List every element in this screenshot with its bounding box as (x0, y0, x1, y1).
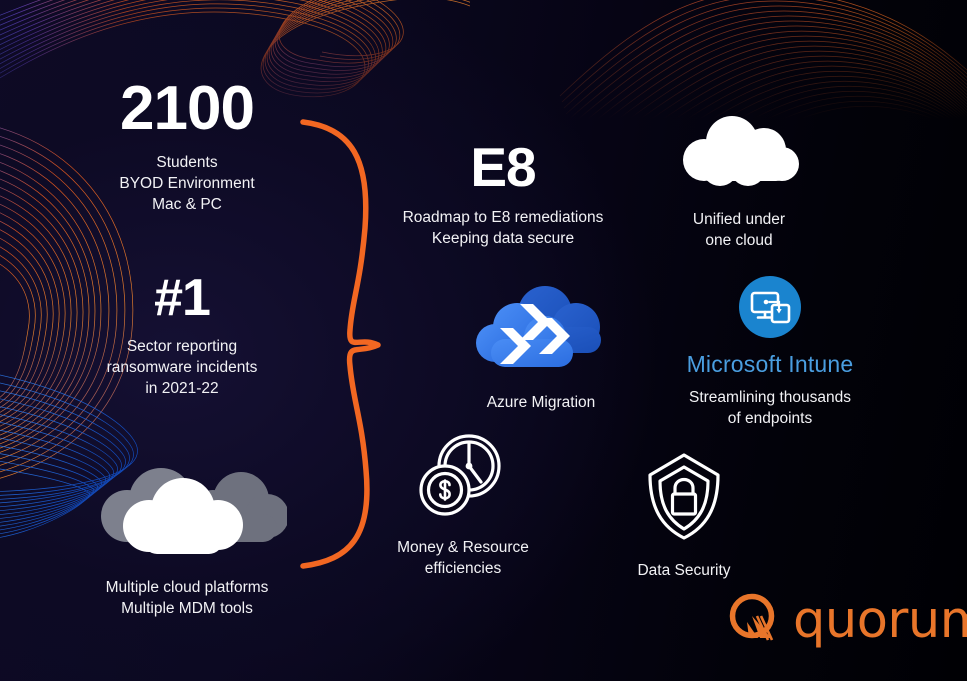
money-resource-block: Money & Resource efficiencies (342, 432, 584, 579)
caption-line: Multiple MDM tools (106, 598, 269, 619)
caption-line: efficiencies (397, 558, 529, 579)
unified-cloud-block: Unified under one cloud (618, 116, 860, 251)
stat-students-number: 2100 (120, 78, 254, 140)
intune-caption: Streamlining thousands of endpoints (689, 387, 851, 429)
caption-line: Streamlining thousands (689, 387, 851, 408)
caption-line: Sector reporting (107, 336, 258, 357)
multi-cloud-icon (87, 468, 287, 565)
data-security-block: Data Security (563, 450, 805, 581)
caption-line: of endpoints (689, 408, 851, 429)
intune-brand-label: Microsoft Intune (687, 351, 854, 378)
stat-sector-caption: Sector reporting ransomware incidents in… (107, 336, 258, 399)
quorum-wordmark: quorum (793, 595, 967, 646)
caption-line: BYOD Environment (119, 173, 254, 194)
stat-students-block: 2100 Students BYOD Environment Mac & PC (66, 78, 308, 215)
data-security-caption: Data Security (637, 560, 730, 581)
intune-block: Microsoft Intune Streamlining thousands … (648, 276, 892, 429)
caption-line: one cloud (693, 230, 785, 251)
caption-line: Money & Resource (397, 537, 529, 558)
shield-lock-icon (644, 450, 724, 547)
caption-line: Multiple cloud platforms (106, 577, 269, 598)
stat-sector-number: #1 (154, 272, 210, 324)
caption-line: Data Security (637, 560, 730, 581)
azure-migration-caption: Azure Migration (487, 392, 596, 413)
money-resource-caption: Money & Resource efficiencies (397, 537, 529, 579)
microsoft-intune-icon (739, 276, 801, 343)
stat-sector-block: #1 Sector reporting ransomware incidents… (62, 272, 302, 399)
unified-cloud-caption: Unified under one cloud (693, 209, 785, 251)
infographic-canvas: 2100 Students BYOD Environment Mac & PC … (0, 0, 967, 681)
clock-coin-icon (415, 432, 511, 523)
caption-line: Students (119, 152, 254, 173)
quorum-q-mark-icon (727, 592, 779, 649)
caption-line: in 2021-22 (107, 378, 258, 399)
essential-eight-block: E8 Roadmap to E8 remediations Keeping da… (382, 140, 624, 249)
cloud-platforms-block: Multiple cloud platforms Multiple MDM to… (66, 468, 308, 619)
essential-eight-caption: Roadmap to E8 remediations Keeping data … (403, 207, 604, 249)
caption-line: Mac & PC (119, 194, 254, 215)
quorum-logo: quorum (727, 592, 967, 649)
caption-line: Azure Migration (487, 392, 596, 413)
caption-line: Keeping data secure (403, 228, 604, 249)
azure-migration-block: Azure Migration (420, 285, 662, 413)
caption-line: Roadmap to E8 remediations (403, 207, 604, 228)
azure-migrate-cloud-icon (473, 285, 609, 376)
caption-line: Unified under (693, 209, 785, 230)
essential-eight-number: E8 (470, 140, 535, 195)
white-cloud-icon (676, 116, 802, 197)
stat-students-caption: Students BYOD Environment Mac & PC (119, 152, 254, 215)
caption-line: ransomware incidents (107, 357, 258, 378)
cloud-platforms-caption: Multiple cloud platforms Multiple MDM to… (106, 577, 269, 619)
